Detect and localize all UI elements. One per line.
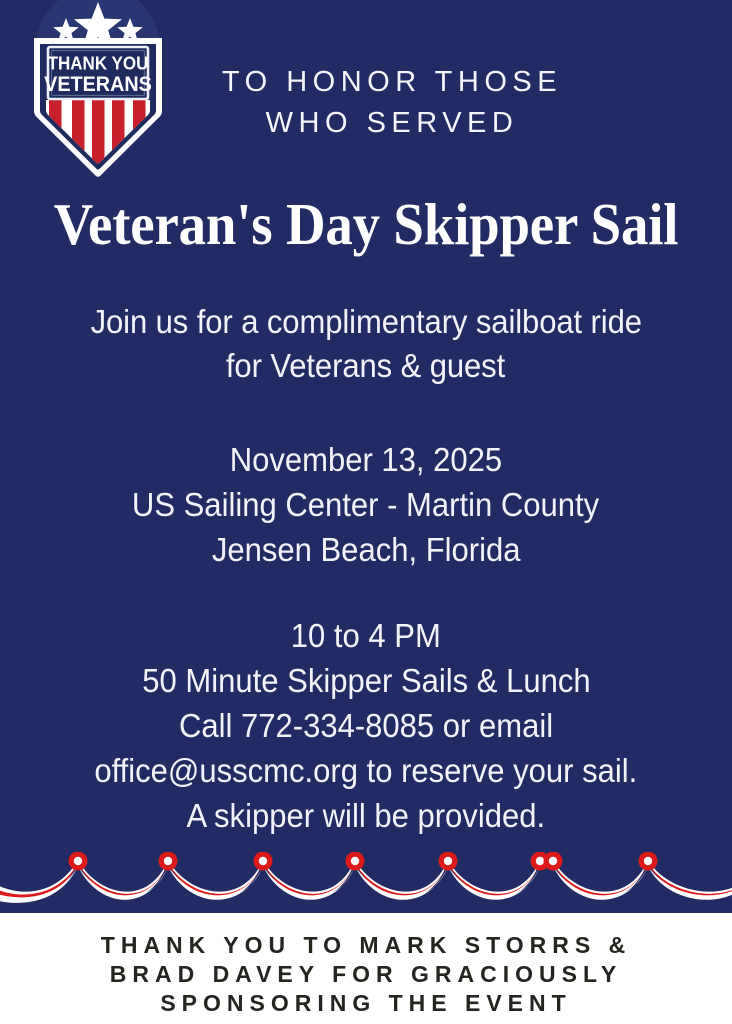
sponsor-line-1: THANK YOU TO MARK STORRS & [0, 931, 732, 960]
intro-block: Join us for a complimentary sailboat rid… [0, 300, 732, 388]
details-block: 10 to 4 PM 50 Minute Skipper Sails & Lun… [0, 613, 732, 838]
sponsor-footer: THANK YOU TO MARK STORRS & BRAD DAVEY FO… [0, 913, 732, 1024]
bunting-swags [0, 860, 732, 903]
bunting-rosettes [69, 852, 658, 871]
contact-line-1[interactable]: Call 772-334-8085 or email [179, 703, 553, 748]
page-title: Veteran's Day Skipper Sail [26, 190, 707, 259]
skipper-note: A skipper will be provided. [187, 793, 546, 838]
event-city: Jensen Beach, Florida [212, 527, 521, 572]
flyer-poster: THANK YOU VETERANS TO HONOR THOSE WHO SE… [0, 0, 732, 1024]
event-offering: 50 Minute Skipper Sails & Lunch [142, 658, 590, 703]
event-date: November 13, 2025 [230, 437, 502, 482]
logo-line1: THANK YOU [48, 53, 149, 74]
intro-line-2: for Veterans & guest [226, 344, 505, 388]
sponsor-credit: THANK YOU TO MARK STORRS & BRAD DAVEY FO… [0, 931, 732, 1018]
when-where-block: November 13, 2025 US Sailing Center - Ma… [0, 437, 732, 572]
header-kicker: TO HONOR THOSE WHO SERVED [182, 62, 602, 144]
thank-you-veterans-logo: THANK YOU VETERANS [18, 0, 178, 188]
kicker-line-2: WHO SERVED [182, 103, 602, 144]
event-venue: US Sailing Center - Martin County [132, 482, 599, 527]
logo-line2: VETERANS [44, 72, 152, 96]
event-time: 10 to 4 PM [291, 613, 441, 658]
intro-line-1: Join us for a complimentary sailboat rid… [90, 300, 641, 344]
sponsor-line-3: SPONSORING THE EVENT [0, 989, 732, 1018]
sponsor-line-2: BRAD DAVEY FOR GRACIOUSLY [0, 960, 732, 989]
kicker-line-1: TO HONOR THOSE [222, 66, 562, 98]
contact-line-2[interactable]: office@usscmc.org to reserve your sail. [95, 748, 638, 793]
patriotic-bunting-decoration [0, 852, 732, 913]
